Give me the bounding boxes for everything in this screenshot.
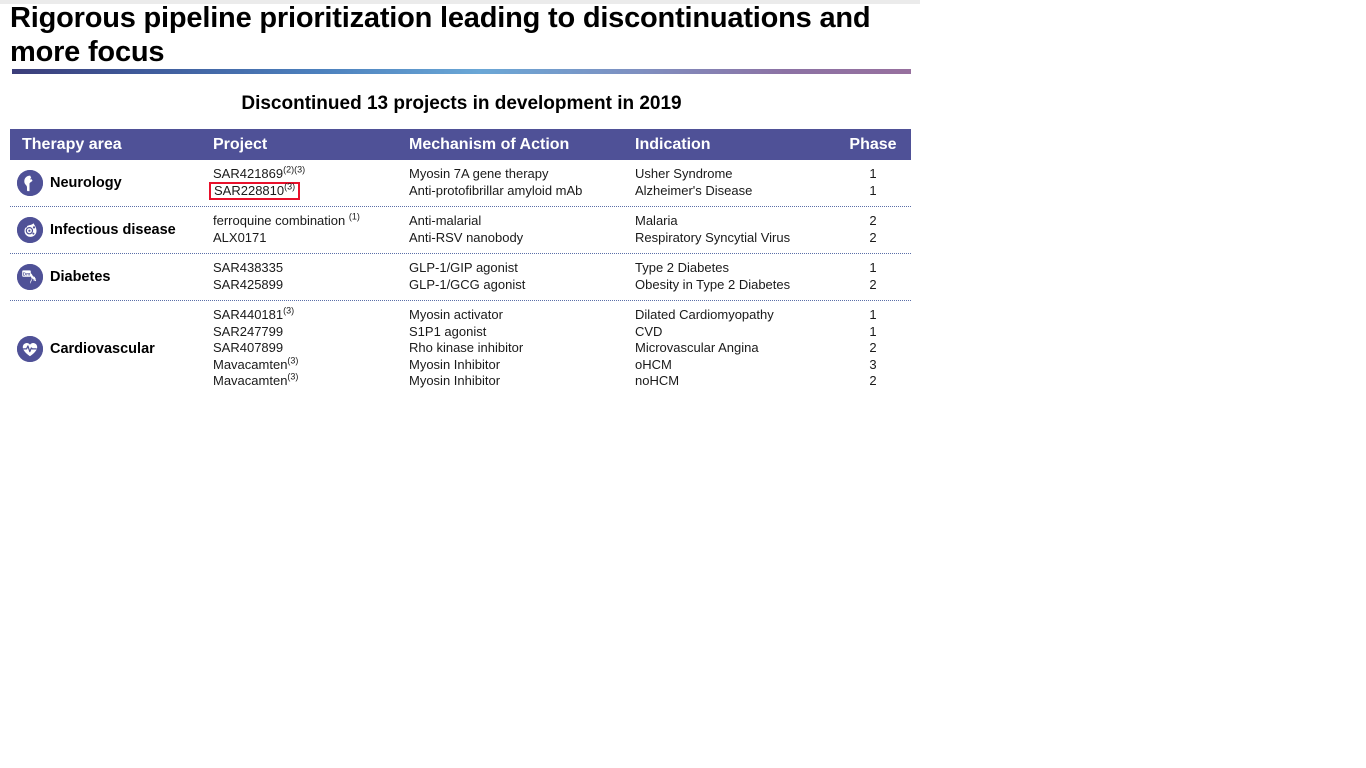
table-header-row: Therapy area Project Mechanism of Action… [10, 129, 911, 160]
project-lines: ferroquine combination (1)Anti-malarialM… [213, 207, 911, 253]
project-cell: ferroquine combination (1) [213, 213, 409, 228]
table-row: CardiovascularSAR440181(3)Myosin activat… [10, 301, 911, 397]
column-header-phase: Phase [835, 136, 911, 154]
project-name: Mavacamten [213, 373, 287, 388]
virus-icon [17, 217, 43, 243]
therapy-area-label: Neurology [50, 175, 122, 191]
project-line: SAR421869(2)(3)Myosin 7A gene therapyUsh… [213, 166, 911, 183]
column-header-project: Project [213, 136, 409, 154]
mechanism-cell: S1P1 agonist [409, 324, 635, 339]
project-line: SAR407899Rho kinase inhibitorMicrovascul… [213, 340, 911, 357]
brain-head-icon [17, 170, 43, 196]
project-footnote-marker: (3) [287, 355, 298, 365]
project-name: SAR440181 [213, 307, 283, 322]
project-footnote-marker: (3) [284, 181, 295, 191]
project-text: Mavacamten(3) [213, 357, 298, 372]
page-title: Rigorous pipeline prioritization leading… [10, 2, 890, 69]
project-name: SAR438335 [213, 260, 283, 275]
project-line: ferroquine combination (1)Anti-malarialM… [213, 213, 911, 230]
project-cell: ALX0171 [213, 230, 409, 245]
project-cell: SAR228810(3) [213, 183, 409, 200]
project-name: ferroquine combination [213, 213, 349, 228]
project-cell: Mavacamten(3) [213, 357, 409, 372]
phase-cell: 2 [835, 277, 911, 292]
pipeline-table: Therapy area Project Mechanism of Action… [10, 129, 911, 397]
phase-cell: 1 [835, 166, 911, 181]
project-footnote-marker: (3) [287, 372, 298, 382]
mechanism-cell: Anti-malarial [409, 213, 635, 228]
slide-canvas: Rigorous pipeline prioritization leading… [0, 0, 1366, 768]
table-row: NeurologySAR421869(2)(3)Myosin 7A gene t… [10, 160, 911, 207]
mechanism-cell: Anti-RSV nanobody [409, 230, 635, 245]
project-lines: SAR421869(2)(3)Myosin 7A gene therapyUsh… [213, 160, 911, 206]
indication-cell: Usher Syndrome [635, 166, 835, 181]
table-row: Infectious diseaseferroquine combination… [10, 207, 911, 254]
project-line: SAR425899GLP-1/GCG agonistObesity in Typ… [213, 277, 911, 294]
project-name: Mavacamten [213, 357, 287, 372]
project-name: SAR421869 [213, 166, 283, 181]
phase-cell: 2 [835, 373, 911, 388]
phase-cell: 2 [835, 213, 911, 228]
column-header-indication: Indication [635, 136, 835, 154]
mechanism-cell: GLP-1/GIP agonist [409, 260, 635, 275]
page-subtitle: Discontinued 13 projects in development … [12, 93, 911, 115]
phase-cell: 1 [835, 183, 911, 198]
project-cell: SAR407899 [213, 340, 409, 355]
indication-cell: Microvascular Angina [635, 340, 835, 355]
phase-cell: 2 [835, 340, 911, 355]
phase-cell: 3 [835, 357, 911, 372]
svg-text:Dm: Dm [23, 272, 30, 277]
phase-cell: 1 [835, 260, 911, 275]
indication-cell: Malaria [635, 213, 835, 228]
therapy-area-cell-infectious-disease: Infectious disease [10, 207, 213, 253]
mechanism-cell: Myosin 7A gene therapy [409, 166, 635, 181]
project-name: ALX0171 [213, 230, 267, 245]
indication-cell: Alzheimer's Disease [635, 183, 835, 198]
project-name: SAR407899 [213, 340, 283, 355]
therapy-area-label: Infectious disease [50, 222, 176, 238]
project-line: SAR438335GLP-1/GIP agonistType 2 Diabete… [213, 260, 911, 277]
project-cell: SAR247799 [213, 324, 409, 339]
therapy-area-cell-cardiovascular: Cardiovascular [10, 301, 213, 397]
project-cell: SAR440181(3) [213, 307, 409, 322]
project-cell: SAR425899 [213, 277, 409, 292]
project-footnote-marker: (1) [349, 212, 360, 222]
phase-cell: 1 [835, 307, 911, 322]
column-header-therapy-area: Therapy area [10, 136, 213, 154]
project-line: ALX0171Anti-RSV nanobodyRespiratory Sync… [213, 230, 911, 247]
gradient-divider [12, 69, 911, 74]
indication-cell: Respiratory Syncytial Virus [635, 230, 835, 245]
mechanism-cell: GLP-1/GCG agonist [409, 277, 635, 292]
project-line: SAR440181(3)Myosin activatorDilated Card… [213, 307, 911, 324]
highlighted-project: SAR228810(3) [209, 182, 300, 200]
indication-cell: oHCM [635, 357, 835, 372]
project-text: SAR440181(3) [213, 307, 294, 322]
glucose-meter-icon: Dm [17, 264, 43, 290]
project-text: SAR438335 [213, 260, 283, 275]
project-text: SAR425899 [213, 277, 283, 292]
therapy-area-cell-neurology: Neurology [10, 160, 213, 206]
project-line: SAR247799S1P1 agonistCVD1 [213, 324, 911, 341]
project-name: SAR228810 [214, 183, 284, 198]
mechanism-cell: Myosin activator [409, 307, 635, 322]
therapy-area-label: Diabetes [50, 269, 110, 285]
heart-pulse-icon [17, 336, 43, 362]
project-footnote-marker: (2)(3) [283, 165, 305, 175]
project-line: SAR228810(3)Anti-protofibrillar amyloid … [213, 183, 911, 200]
project-text: Mavacamten(3) [213, 373, 298, 388]
therapy-area-cell-diabetes: DmDiabetes [10, 254, 213, 300]
phase-cell: 1 [835, 324, 911, 339]
indication-cell: noHCM [635, 373, 835, 388]
project-cell: SAR438335 [213, 260, 409, 275]
mechanism-cell: Anti-protofibrillar amyloid mAb [409, 183, 635, 198]
project-text: SAR247799 [213, 324, 283, 339]
project-text: SAR407899 [213, 340, 283, 355]
phase-cell: 2 [835, 230, 911, 245]
indication-cell: CVD [635, 324, 835, 339]
project-line: Mavacamten(3)Myosin InhibitoroHCM3 [213, 357, 911, 374]
project-lines: SAR438335GLP-1/GIP agonistType 2 Diabete… [213, 254, 911, 300]
therapy-area-label: Cardiovascular [50, 341, 155, 357]
column-header-mechanism: Mechanism of Action [409, 136, 635, 154]
mechanism-cell: Myosin Inhibitor [409, 357, 635, 372]
project-line: Mavacamten(3)Myosin InhibitornoHCM2 [213, 373, 911, 390]
mechanism-cell: Rho kinase inhibitor [409, 340, 635, 355]
indication-cell: Dilated Cardiomyopathy [635, 307, 835, 322]
project-text: ALX0171 [213, 230, 267, 245]
indication-cell: Obesity in Type 2 Diabetes [635, 277, 835, 292]
project-name: SAR247799 [213, 324, 283, 339]
project-footnote-marker: (3) [283, 306, 294, 316]
table-body: NeurologySAR421869(2)(3)Myosin 7A gene t… [10, 160, 911, 397]
project-text: SAR421869(2)(3) [213, 166, 305, 181]
project-lines: SAR440181(3)Myosin activatorDilated Card… [213, 301, 911, 397]
table-row: DmDiabetesSAR438335GLP-1/GIP agonistType… [10, 254, 911, 301]
project-cell: SAR421869(2)(3) [213, 166, 409, 181]
indication-cell: Type 2 Diabetes [635, 260, 835, 275]
project-cell: Mavacamten(3) [213, 373, 409, 388]
project-name: SAR425899 [213, 277, 283, 292]
mechanism-cell: Myosin Inhibitor [409, 373, 635, 388]
project-text: ferroquine combination (1) [213, 213, 360, 228]
